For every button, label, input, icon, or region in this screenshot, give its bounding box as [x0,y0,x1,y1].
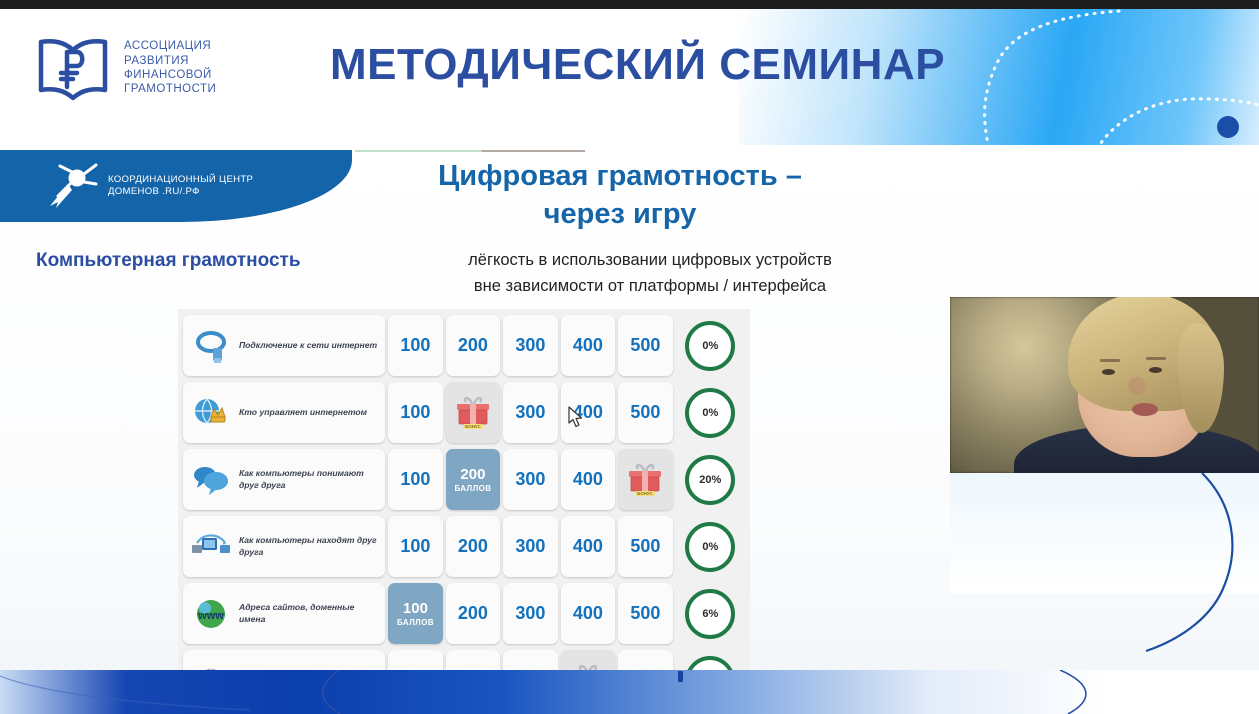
progress-badge-wrap: 20% [676,449,745,510]
slide-subtitle: лёгкость в использовании цифровых устрой… [420,247,880,299]
computers-network-icon [191,529,231,565]
speaker-nose [1128,377,1146,395]
score-cell[interactable]: 300 [503,382,557,443]
board-row: wwwАдреса сайтов, доменные имена100БАЛЛО… [183,581,745,646]
gift-icon: БОНУС [567,663,609,671]
title-rule-decoration [355,150,585,152]
score-value: 100 [403,601,428,616]
topic-cell[interactable]: Подключение к сети интернет [183,315,385,376]
slide-title: Цифровая грамотность – через игру [400,157,840,233]
dotted-curve-decoration [919,9,1259,145]
topic-label: Адреса сайтов, доменные имена [239,602,379,625]
screen-root: АССОЦИАЦИЯ РАЗВИТИЯ ФИНАНСОВОЙ ГРАМОТНОС… [0,0,1259,714]
score-cell[interactable]: 300 [503,449,557,510]
score-cell[interactable]: 100 [388,315,442,376]
score-cell[interactable]: 300 [503,315,557,376]
topic-cell[interactable]: Кто управляет интернетом [183,382,385,443]
section-heading: Компьютерная грамотность [36,250,301,272]
network-cable-icon [191,328,231,364]
topic-label: Как компьютеры понимают друг друга [239,468,379,491]
gift-icon: БОНУС [624,462,666,498]
slide-subtitle-line1: лёгкость в использовании цифровых устрой… [468,251,832,269]
score-cell[interactable]: 400 [561,315,615,376]
score-cell[interactable]: 200 [446,650,500,670]
score-cell[interactable]: 300 [503,516,557,577]
score-cell[interactable]: 100 [388,650,442,670]
topic-label: Кто управляет интернетом [239,407,379,419]
bottom-tick-mark [678,671,683,682]
svg-text:www: www [197,610,224,622]
bottom-curve-lines [0,670,1259,714]
progress-badge: 0% [685,522,735,572]
page-title: МЕТОДИЧЕСКИЙ СЕМИНАР [330,40,945,90]
book-ruble-logo [36,32,110,104]
topic-cell[interactable]: wwwАдреса сайтов, доменные имена [183,583,385,644]
score-cell[interactable]: 200 [446,583,500,644]
board-row: Подключение к сети интернет1002003004005… [183,313,745,378]
speaker-mouth [1132,403,1158,416]
speaker-brow-right [1146,357,1166,360]
bonus-cell[interactable]: БОНУС [618,449,672,510]
score-value: 200 [460,467,485,482]
svg-text:БОНУС: БОНУС [465,424,481,429]
progress-badge: 0% [685,656,735,671]
presentation-slide: КООРДИНАЦИОННЫЙ ЦЕНТР ДОМЕНОВ .RU/.РФ Ци… [0,145,1259,670]
top-black-bar [0,0,1259,9]
score-cell[interactable]: 100БАЛЛОВ [388,583,442,644]
points-word: БАЛЛОВ [454,485,491,493]
blue-circle-decoration [1217,116,1239,138]
points-word: БАЛЛОВ [397,619,434,627]
score-cell[interactable]: 500 [618,650,672,670]
score-cell[interactable]: 500 [618,516,672,577]
topic-cell[interactable]: Интернет - глобальная сеть [183,650,385,670]
topic-label: Как компьютеры находят друг друга [239,535,379,558]
topic-cell[interactable]: Как компьютеры понимают друг друга [183,449,385,510]
header-band: АССОЦИАЦИЯ РАЗВИТИЯ ФИНАНСОВОЙ ГРАМОТНОС… [0,9,1259,145]
svg-text:БОНУС: БОНУС [638,491,654,496]
progress-badge: 0% [685,321,735,371]
score-cell[interactable]: 400 [561,516,615,577]
score-cell[interactable]: 200 [446,516,500,577]
progress-badge-wrap: 0% [676,382,745,443]
association-name: АССОЦИАЦИЯ РАЗВИТИЯ ФИНАНСОВОЙ ГРАМОТНОС… [124,39,216,97]
speaker-brow-left [1100,359,1120,362]
progress-badge-wrap: 0% [676,516,745,577]
topic-label: Подключение к сети интернет [239,340,379,352]
blue-curve-decoration [950,473,1259,653]
score-cell[interactable]: 100 [388,449,442,510]
score-cell[interactable]: 500 [618,382,672,443]
dark-globe-icon [191,663,231,671]
slide-title-line2: через игру [544,198,697,230]
board-row: Как компьютеры понимают друг друга100200… [183,447,745,512]
gift-icon: БОНУС [452,395,494,431]
board-row: Как компьютеры находят друг друга1002003… [183,514,745,579]
progress-badge-wrap: 0% [676,315,745,376]
score-cell[interactable]: 500 [618,315,672,376]
bonus-cell[interactable]: БОНУС [561,650,615,670]
progress-badge-wrap: 6% [676,583,745,644]
board-row: Кто управляет интернетом100БОНУС30040050… [183,380,745,445]
topic-cell[interactable]: Как компьютеры находят друг друга [183,516,385,577]
score-cell[interactable]: 400 [561,449,615,510]
progress-badge-wrap: 0% [676,650,745,670]
slide-title-line1: Цифровая грамотность – [438,160,802,192]
rocket-icon [44,162,100,210]
slide-subtitle-line2: вне зависимости от платформы / интерфейс… [474,277,826,295]
score-cell[interactable]: 500 [618,583,672,644]
www-globe-icon: www [191,596,231,632]
score-cell[interactable]: 200 [446,315,500,376]
speech-bubbles-icon [191,462,231,498]
bottom-decorative-band [0,670,1259,714]
association-logo-block: АССОЦИАЦИЯ РАЗВИТИЯ ФИНАНСОВОЙ ГРАМОТНОС… [36,32,216,104]
board-row: Интернет - глобальная сеть100200300БОНУС… [183,648,745,670]
score-cell[interactable]: 200БАЛЛОВ [446,449,500,510]
globe-crown-icon [191,395,231,431]
score-cell[interactable]: 100 [388,516,442,577]
score-cell[interactable]: 100 [388,382,442,443]
speaker-video-tile[interactable] [950,297,1259,473]
score-cell[interactable]: 300 [503,650,557,670]
coordination-center-label: КООРДИНАЦИОННЫЙ ЦЕНТР ДОМЕНОВ .RU/.РФ [108,174,253,198]
score-cell[interactable]: 400 [561,583,615,644]
score-cell[interactable]: 300 [503,583,557,644]
bonus-cell[interactable]: БОНУС [446,382,500,443]
quiz-board[interactable]: Подключение к сети интернет1002003004005… [178,309,750,670]
progress-badge: 0% [685,388,735,438]
speaker-eye-right [1149,367,1162,373]
progress-badge: 20% [685,455,735,505]
mouse-cursor [568,406,584,428]
progress-badge: 6% [685,589,735,639]
speaker-eye-left [1102,369,1115,375]
